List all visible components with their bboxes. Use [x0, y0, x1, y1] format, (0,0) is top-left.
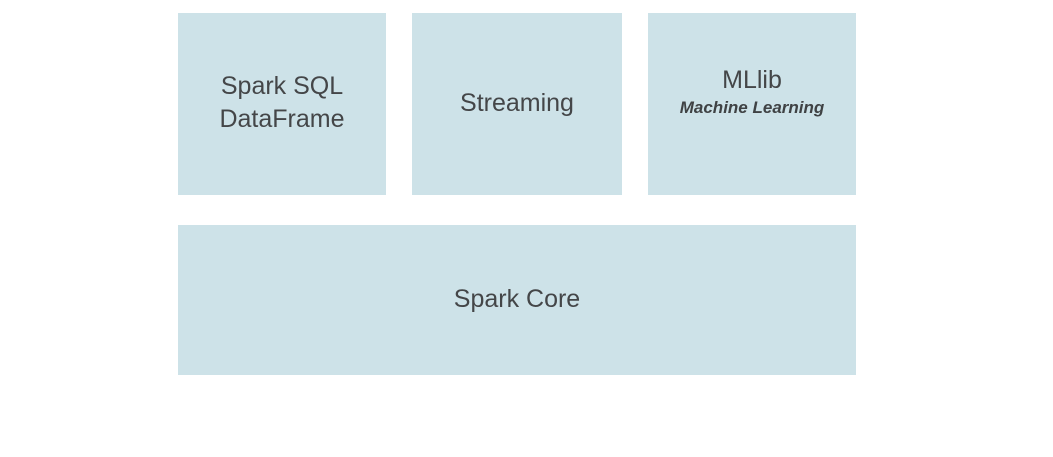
component-label-spark-core: Spark Core [454, 283, 580, 316]
component-label-streaming: Streaming [460, 87, 574, 120]
spark-stack-diagram: Spark SQL DataFrame Streaming MLlib Mach… [0, 0, 1053, 457]
component-label-spark-sql-line2: DataFrame [219, 103, 344, 136]
component-box-spark-sql[interactable]: Spark SQL DataFrame [178, 13, 386, 195]
component-sublabel-mllib: Machine Learning [680, 97, 825, 118]
component-box-streaming[interactable]: Streaming [412, 13, 622, 195]
component-box-spark-core[interactable]: Spark Core [178, 225, 856, 375]
component-box-mllib[interactable]: MLlib Machine Learning [648, 13, 856, 195]
component-label-mllib: MLlib [722, 64, 782, 97]
component-label-spark-sql-line1: Spark SQL [221, 70, 343, 103]
